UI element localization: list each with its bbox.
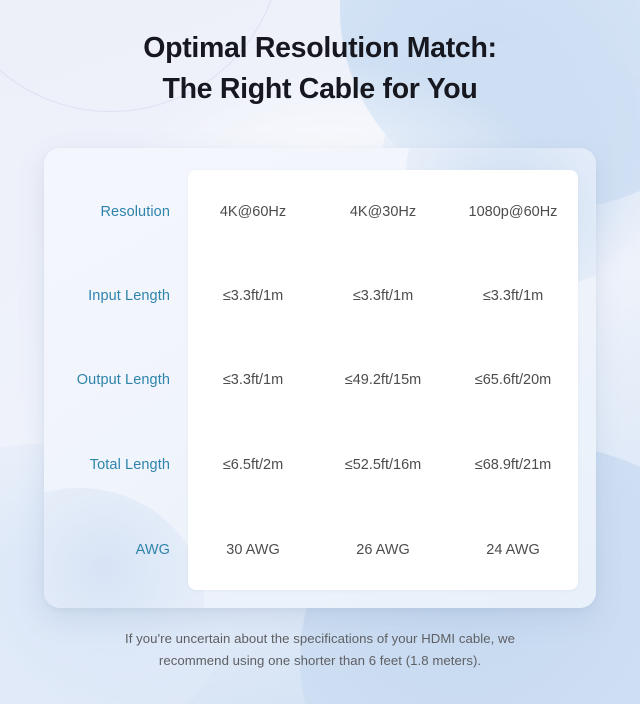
cell-output-length-col1: ≤3.3ft/1m xyxy=(188,370,318,390)
row-label-total-length: Total Length xyxy=(44,455,188,475)
table-row-input-length: Input Length ≤3.3ft/1m ≤3.3ft/1m ≤3.3ft/… xyxy=(44,281,596,311)
cell-total-length-col1: ≤6.5ft/2m xyxy=(188,455,318,475)
row-label-resolution: Resolution xyxy=(44,202,188,222)
spec-comparison-card: Resolution 4K@60Hz 4K@30Hz 1080p@60Hz In… xyxy=(44,148,596,608)
page-title-line-2: The Right Cable for You xyxy=(0,69,640,110)
table-row-output-length: Output Length ≤3.3ft/1m ≤49.2ft/15m ≤65.… xyxy=(44,365,596,395)
row-values-total-length: ≤6.5ft/2m ≤52.5ft/16m ≤68.9ft/21m xyxy=(188,455,578,475)
cell-total-length-col3: ≤68.9ft/21m xyxy=(448,455,578,475)
row-label-input-length: Input Length xyxy=(44,286,188,306)
row-values-awg: 30 AWG 26 AWG 24 AWG xyxy=(188,540,578,560)
cell-awg-col3: 24 AWG xyxy=(448,540,578,560)
cell-resolution-col1: 4K@60Hz xyxy=(188,202,318,222)
footer-note-line-1: If you're uncertain about the specificat… xyxy=(60,628,580,650)
cell-awg-col2: 26 AWG xyxy=(318,540,448,560)
footer-note: If you're uncertain about the specificat… xyxy=(60,628,580,671)
spec-table: Resolution 4K@60Hz 4K@30Hz 1080p@60Hz In… xyxy=(44,148,596,608)
cell-awg-col1: 30 AWG xyxy=(188,540,318,560)
infographic-page: Optimal Resolution Match: The Right Cabl… xyxy=(0,0,640,704)
cell-output-length-col2: ≤49.2ft/15m xyxy=(318,370,448,390)
cell-input-length-col2: ≤3.3ft/1m xyxy=(318,286,448,306)
row-label-awg: AWG xyxy=(44,540,188,560)
table-row-awg: AWG 30 AWG 26 AWG 24 AWG xyxy=(44,535,596,565)
page-title-line-1: Optimal Resolution Match: xyxy=(0,28,640,69)
cell-resolution-col3: 1080p@60Hz xyxy=(448,202,578,222)
row-label-output-length: Output Length xyxy=(44,370,188,390)
cell-total-length-col2: ≤52.5ft/16m xyxy=(318,455,448,475)
table-row-total-length: Total Length ≤6.5ft/2m ≤52.5ft/16m ≤68.9… xyxy=(44,450,596,480)
cell-input-length-col3: ≤3.3ft/1m xyxy=(448,286,578,306)
cell-resolution-col2: 4K@30Hz xyxy=(318,202,448,222)
cell-output-length-col3: ≤65.6ft/20m xyxy=(448,370,578,390)
footer-note-line-2: recommend using one shorter than 6 feet … xyxy=(60,650,580,672)
row-values-input-length: ≤3.3ft/1m ≤3.3ft/1m ≤3.3ft/1m xyxy=(188,286,578,306)
row-values-resolution: 4K@60Hz 4K@30Hz 1080p@60Hz xyxy=(188,202,578,222)
table-row-resolution: Resolution 4K@60Hz 4K@30Hz 1080p@60Hz xyxy=(44,197,596,227)
row-values-output-length: ≤3.3ft/1m ≤49.2ft/15m ≤65.6ft/20m xyxy=(188,370,578,390)
cell-input-length-col1: ≤3.3ft/1m xyxy=(188,286,318,306)
page-title: Optimal Resolution Match: The Right Cabl… xyxy=(0,28,640,110)
